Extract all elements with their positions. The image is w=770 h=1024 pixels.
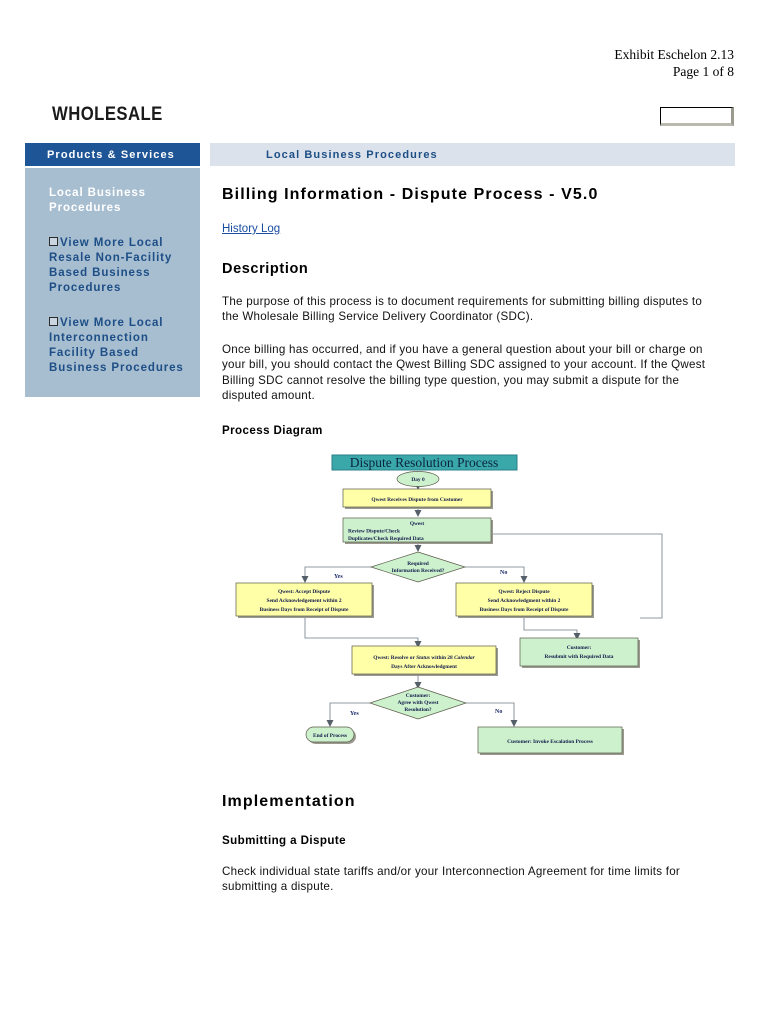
- flowchart-decision2-no-label: No: [495, 709, 502, 715]
- flowchart-node-accept-line1: Qwest: Accept Dispute: [278, 589, 331, 595]
- flowchart-decision1-yes-label: Yes: [334, 574, 343, 580]
- exhibit-title: Exhibit Eschelon 2.13: [614, 46, 734, 63]
- sidebar-heading-line2: Procedures: [49, 202, 121, 214]
- implementation-paragraph: Check individual state tariffs and/or yo…: [222, 864, 714, 895]
- sidebar-heading: Local Business Procedures: [49, 186, 186, 216]
- process-diagram: Dispute Resolution Process Day 0 Qwest R…: [222, 450, 714, 770]
- flowchart-decision1-line1: Required: [407, 561, 428, 567]
- flowchart-decision1-line2: Information Received?: [392, 568, 445, 574]
- flowchart-node-reject-line3: Business Days from Receipt of Dispute: [480, 607, 569, 613]
- flowchart-decision2-line3: Resolution?: [404, 707, 432, 713]
- main-content: Billing Information - Dispute Process - …: [222, 186, 714, 437]
- search-input[interactable]: [660, 107, 734, 126]
- sidebar-item-interconnection-procedures[interactable]: View More Local Interconnection Facility…: [49, 316, 186, 376]
- description-paragraph-1: The purpose of this process is to docume…: [222, 294, 714, 325]
- sidebar-item-label: View More Local Interconnection Facility…: [49, 317, 184, 374]
- description-paragraph-2: Once billing has occurred, and if you ha…: [222, 342, 714, 404]
- flowchart-node-resolve-line1: Qwest: Resolve or Status within 28 Calen…: [373, 655, 475, 661]
- flowchart-decision1-no-label: No: [500, 570, 507, 576]
- nav-tab-products-services[interactable]: Products & Services: [25, 143, 200, 166]
- resolve-seg-a: Qwest: Resolve or: [373, 655, 416, 661]
- document-page: Exhibit Eschelon 2.13 Page 1 of 8 WHOLES…: [0, 0, 770, 1024]
- flowchart-node-escalate: Customer: Invoke Escalation Process: [507, 739, 593, 745]
- flowchart-node-end: End of Process: [313, 733, 347, 739]
- flowchart-node-review-line1: Qwest: [410, 521, 425, 527]
- section-heading-description: Description: [222, 261, 714, 277]
- page-number: Page 1 of 8: [614, 63, 734, 80]
- exhibit-header: Exhibit Eschelon 2.13 Page 1 of 8: [614, 46, 734, 80]
- flowchart-node-receive: Qwest Receives Dispute from Customer: [371, 497, 463, 503]
- sidebar-heading-line1: Local Business: [49, 187, 146, 199]
- resolve-seg-d: Calendar: [454, 655, 476, 661]
- flowchart-node-resubmit-line1: Customer:: [567, 645, 592, 651]
- flowchart-title: Dispute Resolution Process: [350, 455, 499, 470]
- flowchart-node-start: Day 0: [411, 477, 425, 483]
- subsection-heading-submitting-dispute: Submitting a Dispute: [222, 834, 714, 847]
- sidebar-item-resale-procedures[interactable]: View More Local Resale Non-Facility Base…: [49, 236, 186, 296]
- flowchart-node-accept-line3: Business Days from Receipt of Dispute: [260, 607, 349, 613]
- flowchart-node-reject-line2: Send Acknowledgment within 2: [488, 598, 561, 604]
- nav-tab-local-business-procedures[interactable]: Local Business Procedures: [210, 143, 735, 166]
- flowchart-node-review-line3: Duplicates/Check Required Data: [348, 536, 424, 542]
- section-heading-implementation: Implementation: [222, 793, 714, 811]
- flowchart-decision2-line1: Customer:: [406, 693, 431, 699]
- history-log-link[interactable]: History Log: [222, 223, 280, 235]
- square-bullet-icon: [49, 317, 58, 326]
- wholesale-logo: WHOLESALE: [52, 104, 163, 126]
- flowchart-decision2-line2: Agree with Qwest: [398, 700, 439, 706]
- navigation-bar: Products & Services Local Business Proce…: [25, 143, 735, 166]
- resolve-seg-c: within 28: [430, 655, 454, 661]
- page-title: Billing Information - Dispute Process - …: [222, 186, 714, 204]
- flowchart-node-resubmit-line2: Resubmit with Required Data: [545, 654, 614, 660]
- implementation-section: Implementation Submitting a Dispute Chec…: [222, 793, 714, 895]
- flowchart-node-resolve-line2: Days After Acknowledgment: [391, 664, 457, 670]
- resolve-seg-b: Status: [416, 655, 430, 661]
- flowchart-node-reject-line1: Qwest: Reject Dispute: [498, 589, 550, 595]
- flowchart-node-review-line2: Review Dispute/Check: [348, 529, 400, 535]
- square-bullet-icon: [49, 237, 58, 246]
- flowchart-node-accept-line2: Send Acknowledgement within 2: [266, 598, 341, 604]
- sidebar: Local Business Procedures View More Loca…: [25, 168, 200, 397]
- sidebar-item-label: View More Local Resale Non-Facility Base…: [49, 237, 172, 294]
- subsection-heading-process-diagram: Process Diagram: [222, 424, 714, 437]
- flowchart-decision2-yes-label: Yes: [350, 711, 359, 717]
